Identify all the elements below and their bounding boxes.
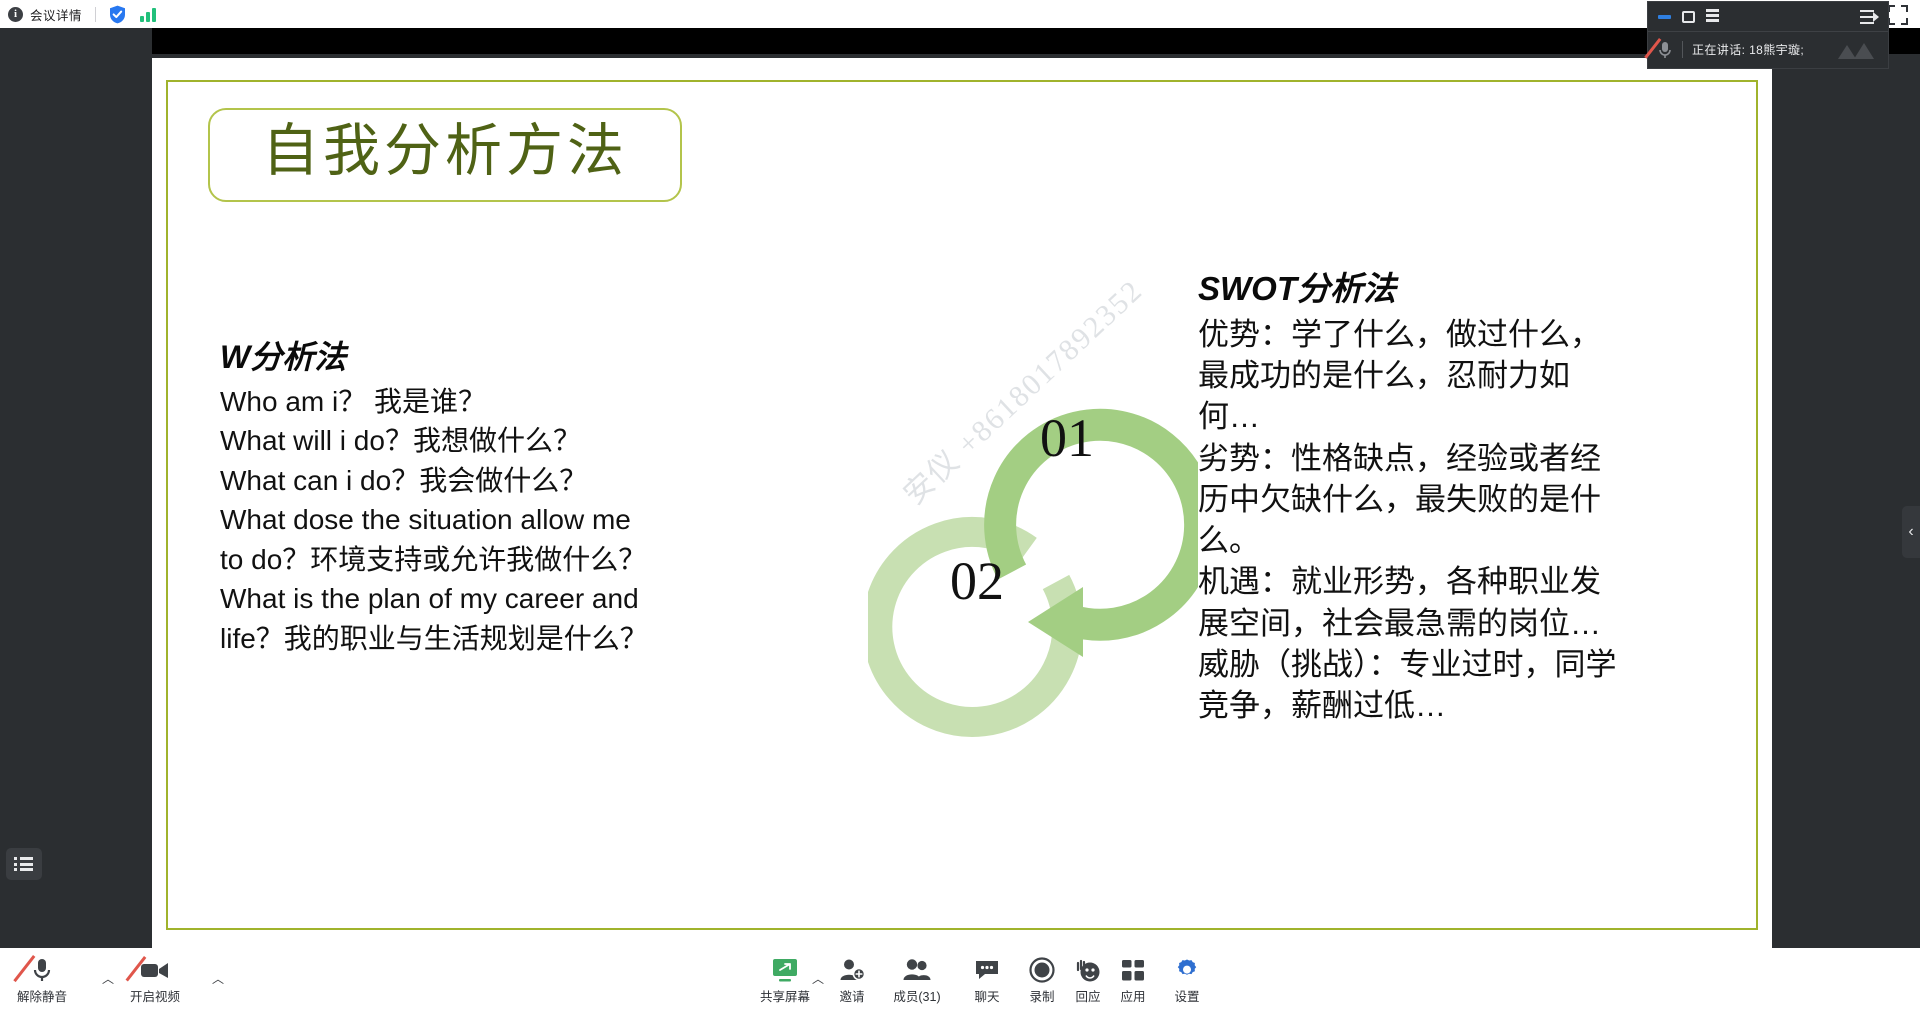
info-icon[interactable]: i xyxy=(8,7,23,22)
w-analysis-line: What dose the situation allow me xyxy=(220,500,840,539)
chat-bubble-icon xyxy=(974,956,1000,984)
fullscreen-icon[interactable] xyxy=(1888,5,1908,25)
meeting-details-label[interactable]: 会议详情 xyxy=(30,5,82,24)
start-video-button[interactable]: 开启视频 xyxy=(118,956,192,1005)
expand-panel-icon[interactable] xyxy=(1860,10,1878,24)
mic-options-chevron[interactable]: ︿ xyxy=(102,970,114,987)
audio-waveform-icon xyxy=(1838,41,1878,59)
top-bar: i 会议详情 xyxy=(0,0,1920,28)
cycle-arrows-graphic xyxy=(868,282,1198,752)
invite-button[interactable]: 邀请 xyxy=(815,956,889,1005)
speaking-label: 正在讲话: 18熊宇璇; xyxy=(1692,41,1804,58)
speaking-status-row: 正在讲话: 18熊宇璇; xyxy=(1648,32,1888,67)
apps-grid-icon xyxy=(1121,956,1145,984)
w-analysis-line: life？我的职业与生活规划是什么？ xyxy=(220,619,840,658)
topbar-divider xyxy=(95,7,96,22)
minimize-icon[interactable] xyxy=(1658,15,1671,19)
settings-button[interactable]: 设置 xyxy=(1150,956,1224,1005)
share-screen-icon xyxy=(771,956,799,984)
cycle-label-02: 02 xyxy=(950,550,1004,612)
participants-button[interactable]: 成员(31) xyxy=(880,956,954,1005)
meeting-screen-share-window: i 会议详情 xyxy=(0,0,1920,1012)
cycle-diagram: 01 02 安仪 +8618017892352 xyxy=(868,282,1198,752)
chat-label: 聊天 xyxy=(974,986,999,1005)
invite-label: 邀请 xyxy=(839,986,864,1005)
restore-window-icon[interactable] xyxy=(1682,11,1695,23)
list-menu-icon[interactable] xyxy=(6,848,42,880)
participants-label: 成员(31) xyxy=(893,986,940,1005)
meeting-toolbar: 解除静音 ︿ 开启视频 ︿ xyxy=(0,948,1920,1012)
microphone-muted-icon xyxy=(31,956,53,984)
chevron-left-icon[interactable]: ‹ xyxy=(1902,506,1920,558)
unmute-label: 解除静音 xyxy=(17,986,67,1005)
video-options-chevron[interactable]: ︿ xyxy=(212,970,224,987)
slide-title-box: 自我分析方法 xyxy=(208,108,682,202)
w-analysis-line: to do？环境支持或允许我做什么？ xyxy=(220,540,840,579)
shield-check-icon[interactable] xyxy=(109,5,126,24)
invite-person-icon xyxy=(839,956,865,984)
slide-canvas: 自我分析方法 W分析法 Who am i？ 我是谁？ What will i d… xyxy=(152,58,1772,948)
share-screen-label: 共享屏幕 xyxy=(760,986,810,1005)
swot-weakness-line: 劣势：性格缺点，经验或者经历中欠缺什么，最失败的是什么。 xyxy=(1198,438,1618,562)
share-screen-button[interactable]: 共享屏幕 xyxy=(748,956,822,1005)
w-analysis-line: What will i do？我想做什么？ xyxy=(220,421,840,460)
panel-separator xyxy=(1682,41,1683,58)
unmute-button[interactable]: 解除静音 xyxy=(5,956,79,1005)
participants-icon xyxy=(903,956,931,984)
settings-label: 设置 xyxy=(1174,986,1199,1005)
floating-speaker-panel: 正在讲话: 18熊宇璇; xyxy=(1648,2,1888,68)
settings-gear-icon xyxy=(1175,956,1199,984)
w-analysis-heading: W分析法 xyxy=(220,332,840,378)
start-video-label: 开启视频 xyxy=(130,986,180,1005)
camera-off-icon xyxy=(140,956,170,984)
w-analysis-line: Who am i？ 我是谁？ xyxy=(220,382,840,421)
apps-label: 应用 xyxy=(1120,986,1145,1005)
swot-opportunity-line: 机遇：就业形势，各种职业发展空间，社会最急需的岗位… xyxy=(1198,561,1618,643)
swot-analysis-block: SWOT分析法 优势：学了什么，做过什么，最成功的是什么，忍耐力如何… 劣势：性… xyxy=(1198,262,1618,726)
w-analysis-block: W分析法 Who am i？ 我是谁？ What will i do？我想做什么… xyxy=(220,332,840,658)
w-analysis-line: What is the plan of my career and xyxy=(220,579,840,618)
cycle-label-01: 01 xyxy=(1040,407,1094,469)
list-view-icon[interactable] xyxy=(1706,9,1719,24)
swot-threat-line: 威胁（挑战）：专业过时，同学竞争，薪酬过低… xyxy=(1198,644,1618,726)
w-analysis-line: What can i do？我会做什么？ xyxy=(220,461,840,500)
left-rail xyxy=(0,28,152,948)
microphone-muted-icon[interactable] xyxy=(1657,40,1673,60)
shared-content-stage: 自我分析方法 W分析法 Who am i？ 我是谁？ What will i d… xyxy=(0,28,1920,948)
slide-content: 自我分析方法 W分析法 Who am i？ 我是谁？ What will i d… xyxy=(166,80,1758,930)
page-title: 自我分析方法 xyxy=(262,122,628,182)
floating-panel-controls xyxy=(1648,2,1888,32)
swot-analysis-heading: SWOT分析法 xyxy=(1198,262,1618,310)
swot-strength-line: 优势：学了什么，做过什么，最成功的是什么，忍耐力如何… xyxy=(1198,314,1618,438)
signal-bars-icon[interactable] xyxy=(140,7,156,22)
